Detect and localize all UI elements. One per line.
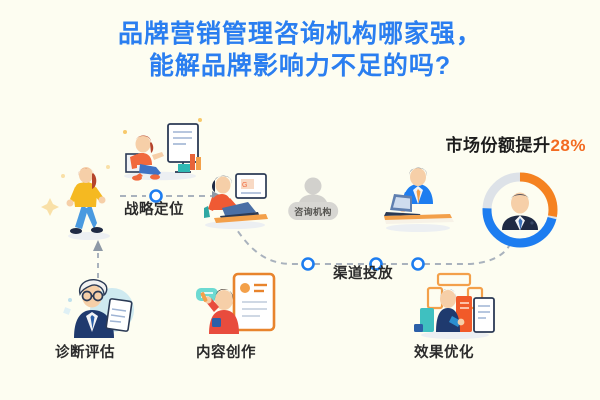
consultant-chip-label: 咨询机构: [288, 202, 338, 220]
title-line-1: 品牌营销管理咨询机构哪家强，: [0, 18, 600, 50]
writer-document-icon: [190, 268, 282, 338]
stage-label-channel: 渠道投放: [333, 262, 393, 283]
presenter-icon: [112, 110, 208, 182]
donut-chart-svg: [478, 168, 562, 252]
charts-person-illustration: [408, 270, 502, 340]
suit-laptop-illustration: [376, 166, 460, 234]
svg-text:G: G: [242, 182, 247, 189]
stage-label-content: 内容创作: [196, 341, 256, 362]
charts-person-icon: [408, 270, 502, 340]
laptop-person-icon: G: [196, 168, 274, 230]
kpi-value: 28%: [550, 136, 586, 155]
writer-document-illustration: [190, 268, 282, 338]
elder-document-icon: [52, 270, 144, 340]
business-person-avatar-icon: [495, 185, 545, 235]
kpi-label: 市场份额提升: [445, 136, 550, 155]
stage-label-diagnose: 诊断评估: [55, 341, 115, 362]
stage-label-strategy: 战略定位: [124, 198, 184, 219]
title-line-2: 能解品牌影响力不足的吗?: [0, 50, 600, 82]
flow-node-3: [413, 259, 424, 270]
page-title: 品牌营销管理咨询机构哪家强， 能解品牌影响力不足的吗?: [0, 18, 600, 82]
laptop-person-illustration: G: [196, 168, 274, 230]
infographic-canvas: 品牌营销管理咨询机构哪家强， 能解品牌影响力不足的吗? 市场份额提升28%: [0, 0, 600, 400]
market-share-callout: 市场份额提升28%: [445, 131, 586, 156]
elder-document-illustration: [52, 270, 144, 340]
presenter-illustration: [112, 110, 208, 182]
walking-person-icon: [58, 163, 120, 241]
market-share-donut: [478, 168, 562, 252]
suit-laptop-icon: [376, 166, 460, 234]
flow-node-1: [303, 259, 314, 270]
stage-label-optimize: 效果优化: [414, 341, 474, 362]
walking-person-illustration: [58, 163, 120, 241]
consultant-node[interactable]: 咨询机构: [282, 176, 344, 222]
